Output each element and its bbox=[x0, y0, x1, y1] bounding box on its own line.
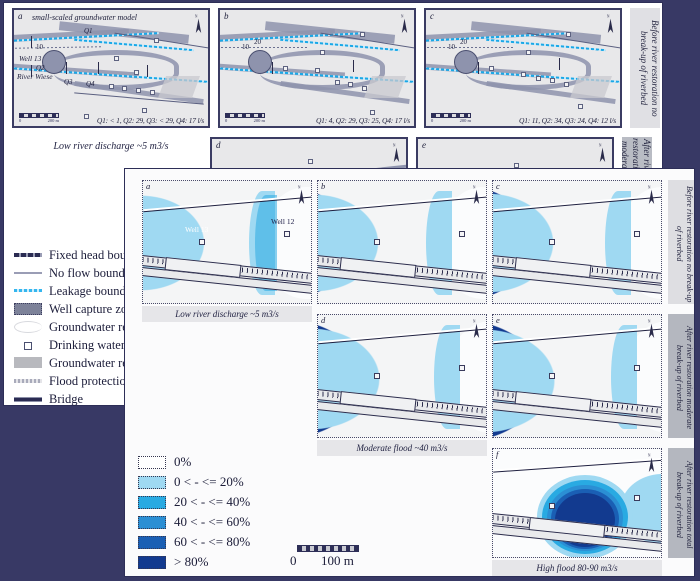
upper-panel-b-contour-10: 10 bbox=[242, 43, 249, 51]
color-legend-row: 40 < - <= 60% bbox=[138, 512, 250, 532]
upper-panel-a-q3: Q3 bbox=[64, 78, 73, 86]
map-artwork-b bbox=[220, 10, 414, 126]
svg-text:N: N bbox=[648, 454, 651, 458]
color-swatch-0 bbox=[138, 456, 166, 469]
lower-side-label-before: Before river restoration no break-up of … bbox=[668, 180, 694, 304]
north-arrow-icon: N bbox=[392, 142, 401, 164]
upper-panel-a-well-label: Well 13 bbox=[19, 54, 41, 63]
color-swatch-5 bbox=[138, 556, 166, 569]
no-flow-line-icon bbox=[14, 267, 42, 279]
percentage-color-legend: 0% 0 < - <= 20% 20 < - <= 40% 40 < - <= … bbox=[138, 452, 250, 572]
upper-panel-a-contour-10: 10 bbox=[36, 43, 43, 51]
color-legend-row: > 80% bbox=[138, 552, 250, 572]
lower-panel-e-label: e bbox=[496, 315, 500, 325]
lower-caption-high-flood: High flood 80-90 m3/s bbox=[492, 560, 662, 576]
leakage-line-icon bbox=[14, 285, 42, 297]
upper-panel-b-scalebar: 0 200 m bbox=[225, 113, 265, 123]
plume-artwork-d bbox=[318, 315, 486, 437]
legend-label: Flood protection bbox=[49, 374, 132, 389]
upper-side-label-before: Before river restoration no break-up of … bbox=[630, 8, 660, 128]
svg-text:N: N bbox=[401, 15, 404, 19]
upper-panel-c-scalebar: 0 200 m bbox=[431, 113, 471, 123]
lower-side-strip-after-moderate: After river restoration moderate break-u… bbox=[668, 314, 694, 438]
upper-panel-e-label: e bbox=[422, 140, 426, 150]
color-swatch-4 bbox=[138, 536, 166, 549]
fixed-head-line-icon bbox=[14, 249, 42, 261]
plume-artwork-b bbox=[318, 181, 486, 303]
upper-panel-a[interactable]: a small-scaled groundwater model Well 13… bbox=[12, 8, 210, 128]
color-swatch-3 bbox=[138, 516, 166, 529]
scale-min: 0 bbox=[225, 118, 227, 123]
svg-text:N: N bbox=[195, 15, 198, 19]
lower-panel-b-label: b bbox=[321, 181, 325, 191]
plume-artwork-c bbox=[493, 181, 661, 303]
scalebar-max: 100 m bbox=[321, 553, 354, 569]
upper-panel-c-contour-20: 20 bbox=[460, 38, 467, 46]
lower-panel-c-label: c bbox=[496, 181, 500, 191]
scalebar-min: 0 bbox=[290, 553, 297, 569]
north-arrow-icon: N bbox=[472, 318, 481, 340]
svg-text:N: N bbox=[648, 320, 651, 324]
upper-panel-row-top: a small-scaled groundwater model Well 13… bbox=[12, 8, 652, 133]
color-legend-row: 0 < - <= 20% bbox=[138, 472, 250, 492]
svg-text:N: N bbox=[648, 186, 651, 190]
lower-panel-a-well13-label: Well 13 bbox=[185, 225, 208, 234]
lower-panel-e[interactable]: e N bbox=[492, 314, 662, 438]
color-legend-row: 0% bbox=[138, 452, 250, 472]
north-arrow-icon: N bbox=[647, 452, 656, 474]
upper-panel-a-q4: Q4 bbox=[86, 80, 95, 88]
upper-panel-a-q1: Q1 bbox=[84, 27, 93, 35]
upper-panel-c-label: c bbox=[430, 11, 434, 21]
drinking-water-well-square-icon bbox=[14, 339, 42, 351]
scale-min: 0 bbox=[19, 118, 21, 123]
svg-text:N: N bbox=[473, 186, 476, 190]
capture-zone-swatch-icon bbox=[14, 303, 42, 315]
north-arrow-icon: N bbox=[647, 318, 656, 340]
lower-side-label-after-total: After river restoration total break-up o… bbox=[668, 448, 694, 558]
upper-panel-d-label: d bbox=[216, 140, 221, 150]
color-legend-label: 40 < - <= 60% bbox=[174, 514, 250, 530]
flood-protection-line-icon bbox=[14, 375, 42, 387]
legend-label: Bridge bbox=[49, 392, 83, 407]
svg-text:N: N bbox=[473, 320, 476, 324]
north-arrow-icon: N bbox=[647, 184, 656, 206]
lower-panel-d[interactable]: d N bbox=[317, 314, 487, 438]
scale-max: 200 m bbox=[254, 118, 265, 123]
lower-panel-f[interactable]: f N bbox=[492, 448, 662, 558]
svg-text:N: N bbox=[393, 144, 396, 148]
color-legend-label: 0% bbox=[174, 454, 191, 470]
upper-panel-a-label: a bbox=[18, 11, 23, 21]
scale-max: 200 m bbox=[460, 118, 471, 123]
north-arrow-icon: N bbox=[472, 184, 481, 206]
lower-side-strip-after-total: After river restoration total break-up o… bbox=[668, 448, 694, 558]
upper-panel-b-contour-20: 20 bbox=[254, 38, 261, 46]
upper-panel-a-river-label: River Wiese bbox=[17, 72, 53, 81]
north-arrow-icon: N bbox=[297, 184, 306, 206]
upper-panel-a-q-text: Q1: < 1, Q2: 29, Q3: < 29, Q4: 17 l/s bbox=[97, 116, 204, 125]
upper-panel-c[interactable]: c 10 20 N 0 200 m Q1: 11, Q2: 34, bbox=[424, 8, 622, 128]
plume-artwork-a bbox=[143, 181, 311, 303]
groundwater-recharge-swatch-icon bbox=[14, 357, 42, 369]
lower-caption-moderate-flood: Moderate flood ~40 m3/s bbox=[317, 440, 487, 456]
lower-side-strip-before: Before river restoration no break-up of … bbox=[668, 180, 694, 304]
scale-min: 0 bbox=[431, 118, 433, 123]
upper-panel-a-annotation: small-scaled groundwater model bbox=[32, 13, 137, 22]
color-legend-label: 0 < - <= 20% bbox=[174, 474, 244, 490]
color-swatch-2 bbox=[138, 496, 166, 509]
map-artwork-c bbox=[426, 10, 620, 126]
lower-scalebar: 0 100 m bbox=[290, 545, 410, 569]
upper-panel-c-q-text: Q1: 11, Q2: 34, Q3: 24, Q4: 12 l/s bbox=[519, 116, 616, 125]
color-legend-label: 60 < - <= 80% bbox=[174, 534, 250, 550]
groundwater-resource-arc-icon bbox=[14, 321, 42, 333]
lower-panel-f-label: f bbox=[496, 449, 498, 459]
lower-panel-d-label: d bbox=[321, 315, 325, 325]
scale-max: 200 m bbox=[48, 118, 59, 123]
svg-text:N: N bbox=[607, 15, 610, 19]
plume-artwork-e bbox=[493, 315, 661, 437]
north-arrow-icon: N bbox=[606, 13, 615, 35]
color-swatch-1 bbox=[138, 476, 166, 489]
figure-canvas: a small-scaled groundwater model Well 13… bbox=[0, 0, 700, 581]
lower-panel-a[interactable]: a Well 13 Well 12 N bbox=[142, 180, 312, 304]
north-arrow-icon: N bbox=[400, 13, 409, 35]
color-legend-label: > 80% bbox=[174, 554, 208, 570]
lower-side-label-after-moderate: After river restoration moderate break-u… bbox=[668, 314, 694, 438]
upper-panel-b-label: b bbox=[224, 11, 229, 21]
scalebar-graphic bbox=[297, 545, 359, 552]
lower-panel-a-label: a bbox=[146, 181, 150, 191]
upper-panel-b-q-text: Q1: 4, Q2: 29, Q3: 25, Q4: 17 l/s bbox=[316, 116, 410, 125]
color-legend-row: 60 < - <= 80% bbox=[138, 532, 250, 552]
upper-side-strip-before: Before river restoration no break-up of … bbox=[630, 8, 660, 128]
upper-panel-c-contour-10: 10 bbox=[448, 43, 455, 51]
upper-panel-a-q2: Q2 bbox=[36, 64, 45, 72]
upper-panel-b[interactable]: b 10 20 N 0 200 m Q1: 4, Q2: 29, Q bbox=[218, 8, 416, 128]
lower-caption-low-discharge: Low river discharge ~5 m3/s bbox=[142, 306, 312, 322]
north-arrow-icon: N bbox=[598, 142, 607, 164]
color-legend-label: 20 < - <= 40% bbox=[174, 494, 250, 510]
lower-panel-a-well12-label: Well 12 bbox=[271, 217, 294, 226]
svg-text:N: N bbox=[599, 144, 602, 148]
lower-panel-c[interactable]: c N bbox=[492, 180, 662, 304]
color-legend-row: 20 < - <= 40% bbox=[138, 492, 250, 512]
svg-text:N: N bbox=[298, 186, 301, 190]
bridge-line-icon bbox=[14, 393, 42, 405]
upper-panel-a-scalebar: 0 200 m bbox=[19, 113, 59, 123]
lower-panel-b[interactable]: b N bbox=[317, 180, 487, 304]
plume-artwork-f bbox=[493, 449, 661, 557]
north-arrow-icon: N bbox=[194, 13, 203, 35]
